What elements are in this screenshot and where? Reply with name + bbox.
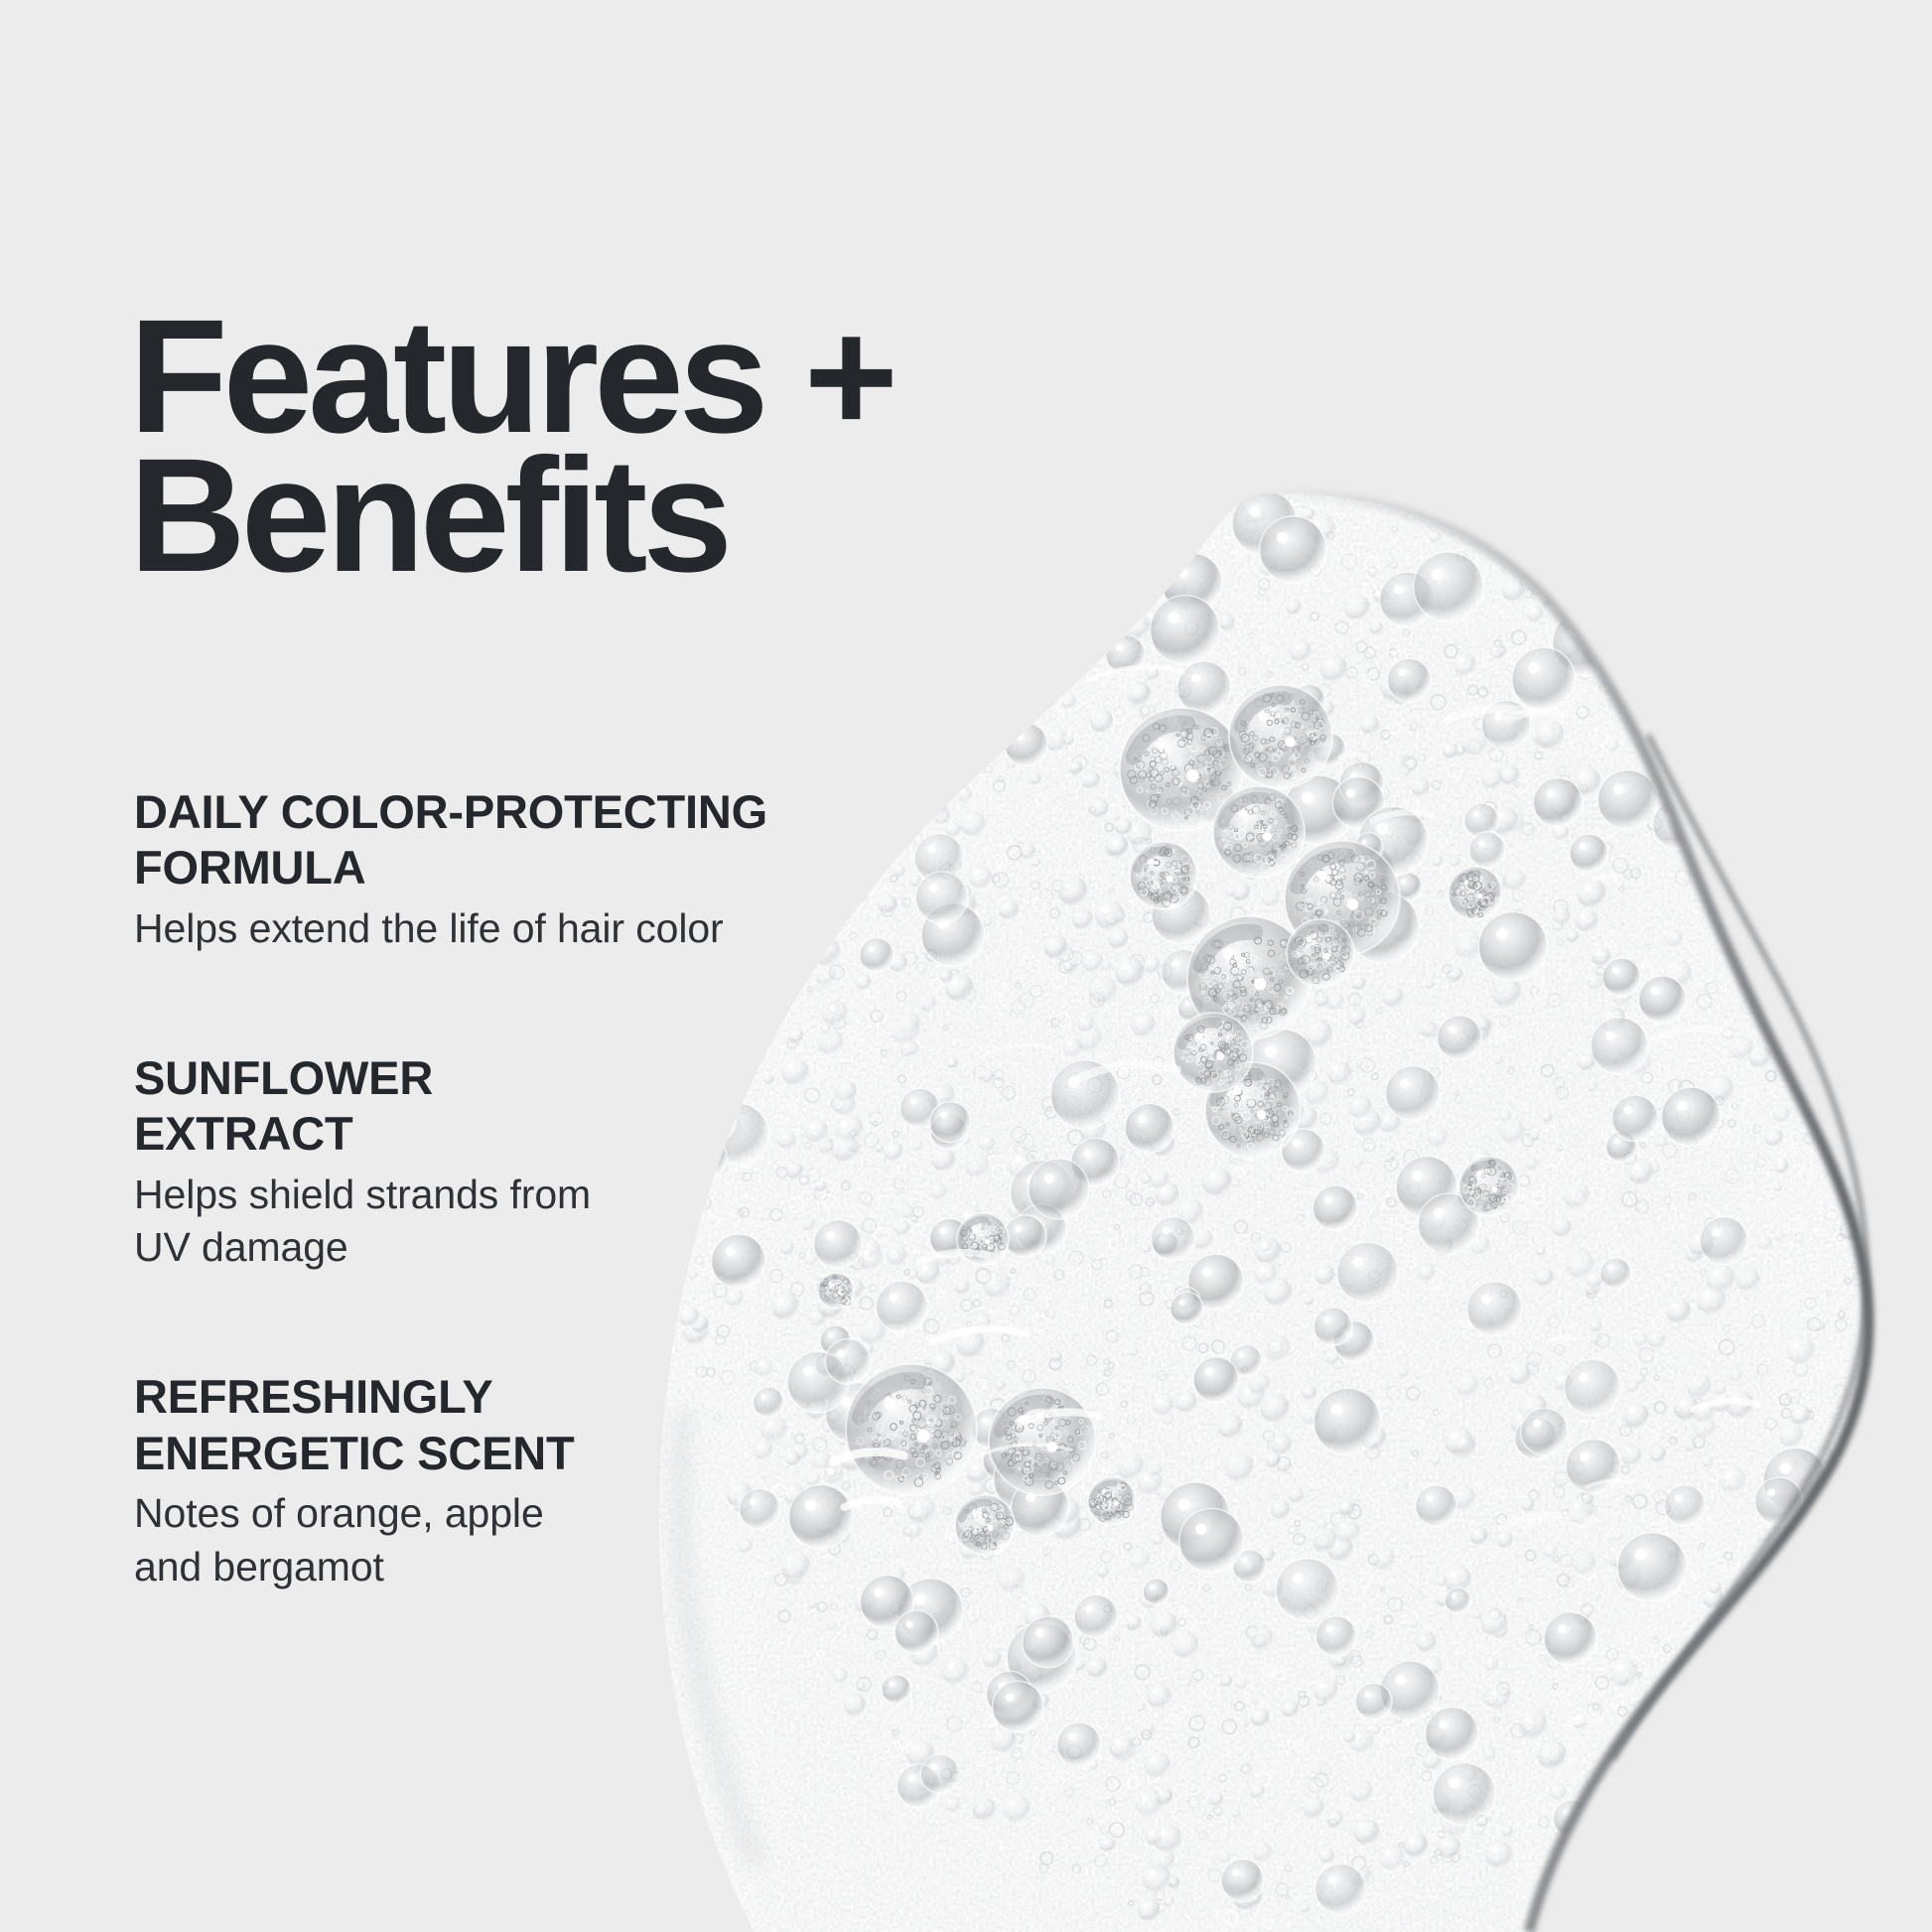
- feature-block-refreshingly-energetic-scent: REFRESHINGLY ENERGETIC SCENT Notes of or…: [134, 1369, 889, 1592]
- feature-list: DAILY COLOR-PROTECTING FORMULA Helps ext…: [134, 784, 889, 1593]
- feature-title: SUNFLOWER EXTRACT: [134, 1050, 889, 1163]
- feature-title: REFRESHINGLY ENERGETIC SCENT: [134, 1369, 889, 1481]
- feature-description: Helps shield strands from UV damage: [134, 1169, 889, 1275]
- feature-description: Helps extend the life of hair color: [134, 902, 889, 955]
- feature-description: Notes of orange, apple and bergamot: [134, 1487, 889, 1593]
- page-title: Features + Benefits: [129, 307, 1122, 585]
- feature-title: DAILY COLOR-PROTECTING FORMULA: [134, 784, 889, 897]
- feature-block-sunflower-extract: SUNFLOWER EXTRACT Helps shield strands f…: [134, 1050, 889, 1274]
- product-feature-card: Features + Benefits DAILY COLOR-PROTECTI…: [0, 0, 1932, 1932]
- feature-block-daily-color-protecting-formula: DAILY COLOR-PROTECTING FORMULA Helps ext…: [134, 784, 889, 955]
